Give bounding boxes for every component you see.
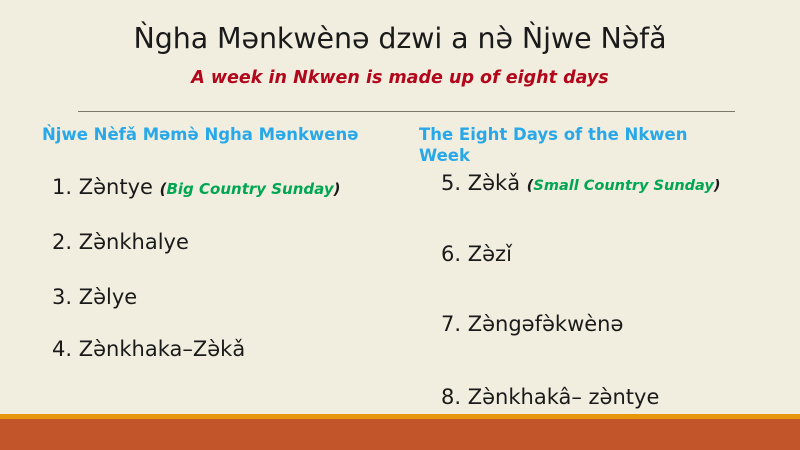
day-number: 4. xyxy=(52,337,72,361)
day-number: 7. xyxy=(441,312,461,336)
day-name: Zə̀nkhakâ– zə̀ntye xyxy=(468,385,660,409)
list-item: 1. Zə̀ntye (Big Country Sunday) xyxy=(52,176,340,199)
list-item: 3. Zə̀lye xyxy=(52,286,137,309)
right-column-header: The Eight Days of the Nkwen Week xyxy=(419,124,709,166)
list-item: 2. Zə̀nkhalye xyxy=(52,231,189,254)
slide-title: Ǹgha Mənkwènə dzwi a nə̀ Ǹjwe Nə̀fǎ xyxy=(0,23,800,55)
day-number: 5. xyxy=(441,171,461,195)
footer-accent-bar-rust xyxy=(0,419,800,450)
day-number: 1. xyxy=(52,175,72,199)
day-name: Zə̀nkhaka–Zə̀kǎ xyxy=(79,337,245,361)
title-divider-rule xyxy=(78,111,735,112)
day-name: Zə̀nkhalye xyxy=(79,230,189,254)
day-number: 2. xyxy=(52,230,72,254)
day-number: 6. xyxy=(441,242,461,266)
list-item: 5. Zə̀kǎ (Small Country Sunday) xyxy=(441,172,720,195)
day-name: Zə̀zǐ xyxy=(468,242,512,266)
day-gloss: Small Country Sunday xyxy=(533,178,713,194)
day-number: 3. xyxy=(52,285,72,309)
list-item: 6. Zə̀zǐ xyxy=(441,243,512,266)
slide-subtitle: A week in Nkwen is made up of eight days xyxy=(0,68,800,88)
gloss-close-paren: ) xyxy=(334,180,341,198)
day-gloss: Big Country Sunday xyxy=(166,180,333,198)
day-name: Zə̀lye xyxy=(79,285,138,309)
slide-canvas: Ǹgha Mənkwènə dzwi a nə̀ Ǹjwe Nə̀fǎ A we… xyxy=(0,0,800,450)
list-item: 8. Zə̀nkhakâ– zə̀ntye xyxy=(441,386,659,409)
list-item: 4. Zə̀nkhaka–Zə̀kǎ xyxy=(52,338,245,361)
day-name: Zə̀ntye xyxy=(79,175,153,199)
day-number: 8. xyxy=(441,385,461,409)
day-name: Zə̀kǎ xyxy=(468,171,520,195)
list-item: 7. Zə̀ngəfə̀kwènə xyxy=(441,313,623,336)
day-name: Zə̀ngəfə̀kwènə xyxy=(468,312,624,336)
gloss-close-paren: ) xyxy=(714,178,721,194)
left-column-header: Ǹjwe Nèfǎ Məmə̀ Ngha Mənkwenə xyxy=(42,124,402,145)
